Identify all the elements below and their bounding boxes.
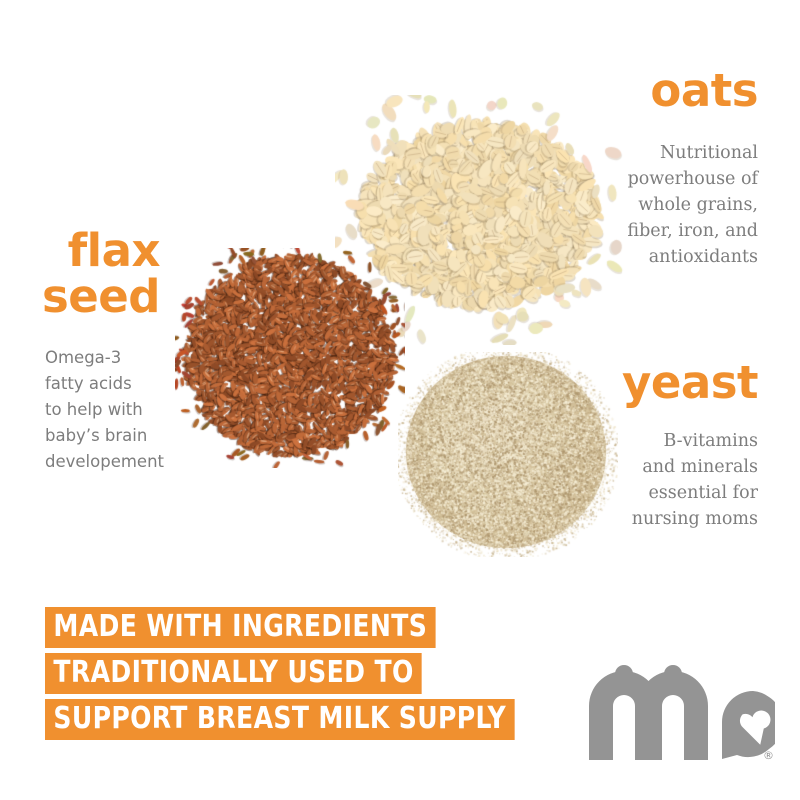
- oats-description: Nutritional powerhouse of whole grains, …: [598, 140, 758, 270]
- mb-logo-icon: ®: [585, 660, 775, 765]
- infographic-canvas: oats Nutritional powerhouse of whole gra…: [0, 0, 800, 800]
- flax-seed-description: Omega-3 fatty acids to help with baby’s …: [45, 345, 215, 475]
- yeast-description: B-vitamins and minerals essential for nu…: [598, 428, 758, 532]
- tagline-line-3: SUPPORT BREAST MILK SUPPLY: [45, 699, 514, 740]
- registered-trademark-mark: ®: [763, 749, 774, 762]
- yeast-heading: yeast: [580, 360, 758, 406]
- oats-heading: oats: [600, 68, 758, 114]
- tagline-line-1: MADE WITH INGREDIENTS: [45, 607, 436, 648]
- tagline-line-2: TRADITIONALLY USED TO: [45, 653, 422, 694]
- flax-seed-heading: flax seed: [10, 228, 160, 320]
- tagline-banner: MADE WITH INGREDIENTS TRADITIONALLY USED…: [45, 607, 550, 745]
- brand-logo: ®: [585, 660, 775, 765]
